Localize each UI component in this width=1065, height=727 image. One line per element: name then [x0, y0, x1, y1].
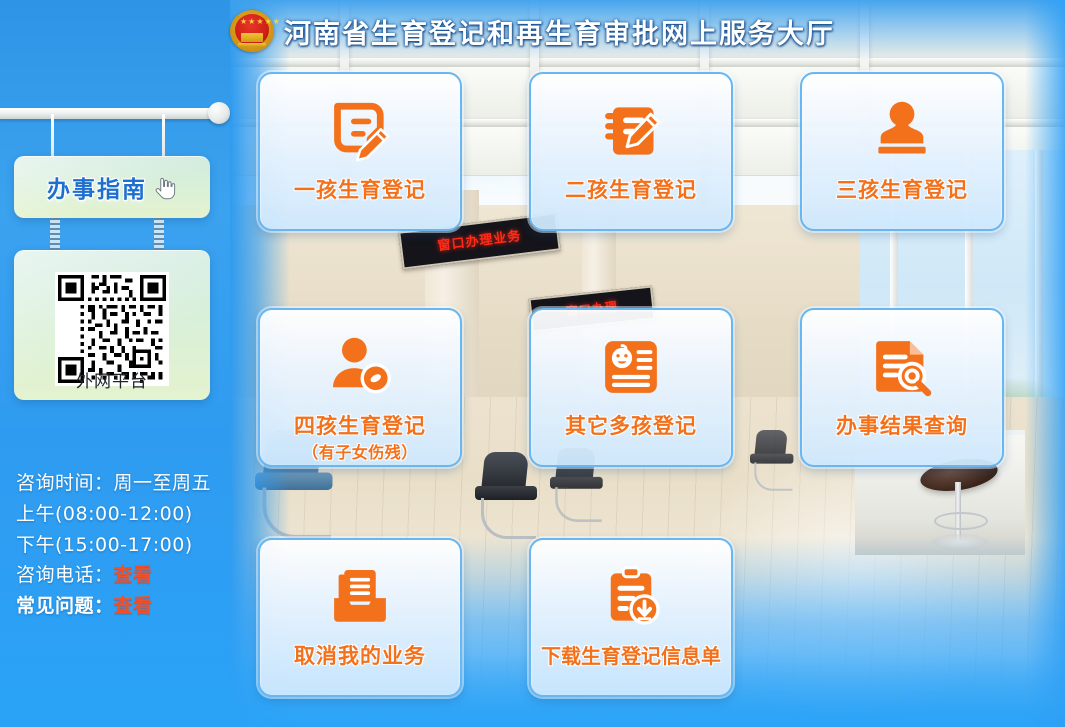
card-label: 四孩生育登记 — [294, 410, 426, 440]
background-fade-right — [1025, 0, 1065, 727]
card-label: 三孩生育登记 — [836, 174, 968, 204]
card-label: 办事结果查询 — [836, 410, 968, 440]
hanging-wire — [51, 114, 54, 156]
card-sublabel: （有子女伤残） — [302, 439, 418, 463]
rod-knob-icon — [208, 102, 230, 124]
contact-info: 咨询时间：周一至周五 上午(08:00-12:00) 下午(15:00-17:0… — [16, 468, 236, 622]
page-title: 河南省生育登记和再生育审批网上服务大厅 — [284, 12, 835, 51]
page-header: ★★★★★ 河南省生育登记和再生育审批网上服务大厅 — [0, 0, 1065, 62]
card-download-birth-registration-form[interactable]: 下载生育登记信息单 — [529, 538, 733, 697]
stool-footring — [934, 512, 988, 530]
chair-legs — [754, 462, 793, 491]
card-second-child-birth-registration[interactable]: 二孩生育登记 — [529, 72, 733, 231]
document-search-icon — [865, 330, 939, 404]
hand-pointer-icon — [151, 176, 177, 202]
china-national-emblem-icon: ★★★★★ — [230, 10, 274, 52]
faq-link[interactable]: 查看 — [114, 595, 153, 617]
card-label: 二孩生育登记 — [565, 174, 697, 204]
card-cancel-my-business[interactable]: 取消我的业务 — [258, 538, 462, 697]
chair-legs — [555, 487, 602, 522]
card-fourth-child-birth-registration[interactable]: 四孩生育登记 （有子女伤残） — [258, 308, 462, 467]
qr-panel: 外网平台 — [14, 250, 210, 400]
hanging-rod — [0, 108, 222, 119]
chair-legs — [481, 498, 536, 539]
consult-phone-row: 咨询电话：查看 — [16, 560, 236, 591]
card-label: 取消我的业务 — [294, 640, 426, 670]
stamp-icon — [865, 94, 939, 168]
consult-phone-label: 咨询电话： — [16, 564, 114, 586]
card-label: 下载生育登记信息单 — [541, 640, 721, 669]
emblem-stars: ★★★★★ — [240, 17, 264, 29]
consult-hours: 咨询时间：周一至周五 — [16, 468, 236, 499]
clipboard-download-icon — [594, 560, 668, 634]
service-guide-button[interactable]: 办事指南 — [14, 156, 210, 218]
morning-hours: 上午(08:00-12:00) — [16, 499, 236, 530]
file-tray-icon — [323, 560, 397, 634]
notebook-pencil-icon — [594, 94, 668, 168]
panel-connectors — [14, 218, 210, 252]
qr-caption: 外网平台 — [14, 367, 210, 392]
baby-id-card-icon — [594, 330, 668, 404]
card-result-query[interactable]: 办事结果查询 — [800, 308, 1004, 467]
spring-link — [154, 218, 164, 252]
service-hall-page: 窗口办理业务 窗口办理 — [0, 0, 1065, 727]
faq-row: 常见问题：查看 — [16, 591, 236, 622]
faq-label: 常见问题： — [16, 595, 114, 617]
stool-post — [955, 482, 961, 540]
spring-link — [50, 218, 60, 252]
card-label: 其它多孩登记 — [565, 410, 697, 440]
emblem-gate — [241, 33, 263, 42]
card-label: 一孩生育登记 — [294, 174, 426, 204]
card-first-child-birth-registration[interactable]: 一孩生育登记 — [258, 72, 462, 231]
consult-phone-link[interactable]: 查看 — [114, 564, 153, 586]
card-other-multiple-children-registration[interactable]: 其它多孩登记 — [529, 308, 733, 467]
person-badge-icon — [323, 330, 397, 404]
hanging-wire — [162, 114, 165, 156]
card-third-child-birth-registration[interactable]: 三孩生育登记 — [800, 72, 1004, 231]
afternoon-hours: 下午(15:00-17:00) — [16, 530, 236, 561]
document-pencil-icon — [323, 94, 397, 168]
emblem-base — [238, 43, 266, 47]
service-guide-label: 办事指南 — [47, 170, 147, 204]
